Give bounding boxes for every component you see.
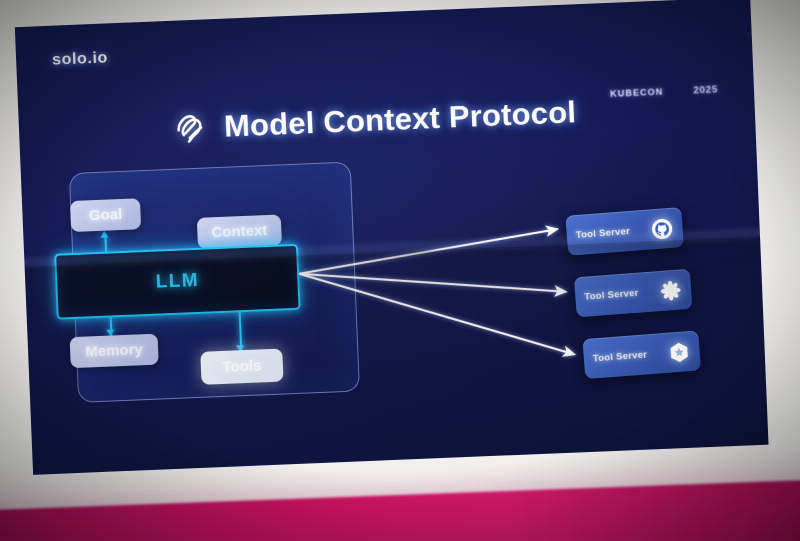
tool-server-1-label: Tool Server [575,225,643,241]
tool-server-3-label: Tool Server [592,348,660,364]
photo-of-projected-slide: solo.io KUBECON 2025 Model Context Proto… [0,0,800,541]
node-context: Context [197,214,282,248]
node-goal: Goal [70,198,141,232]
tool-server-card-1: Tool Server [565,207,684,256]
node-memory-label: Memory [85,341,143,360]
mcp-logo-icon [170,107,212,149]
page-title: Model Context Protocol [223,94,576,144]
conference-name: KUBECON [610,87,664,99]
arrowhead-goal [100,231,108,238]
tool-server-card-2: Tool Server [574,269,693,318]
node-context-label: Context [211,222,267,241]
hexagon-icon [667,340,692,365]
slide-canvas: solo.io KUBECON 2025 Model Context Proto… [15,0,769,475]
solo-io-logo: solo.io [52,49,108,69]
node-tools: Tools [200,349,283,385]
tool-server-2-label: Tool Server [584,286,652,302]
node-goal-label: Goal [89,206,123,224]
node-tools-label: Tools [222,357,262,376]
conference-mark: KUBECON 2025 [610,84,718,99]
flower-gear-icon [658,278,683,303]
projection-screen-frame: solo.io KUBECON 2025 Model Context Proto… [0,0,800,521]
llm-core-label: LLM [155,270,199,294]
node-memory: Memory [70,334,159,369]
github-icon [650,216,675,241]
llm-core-box: LLM [54,244,301,320]
conference-year: 2025 [693,84,718,96]
tool-server-card-3: Tool Server [582,330,701,379]
slide-title-row: Model Context Protocol [170,92,577,149]
